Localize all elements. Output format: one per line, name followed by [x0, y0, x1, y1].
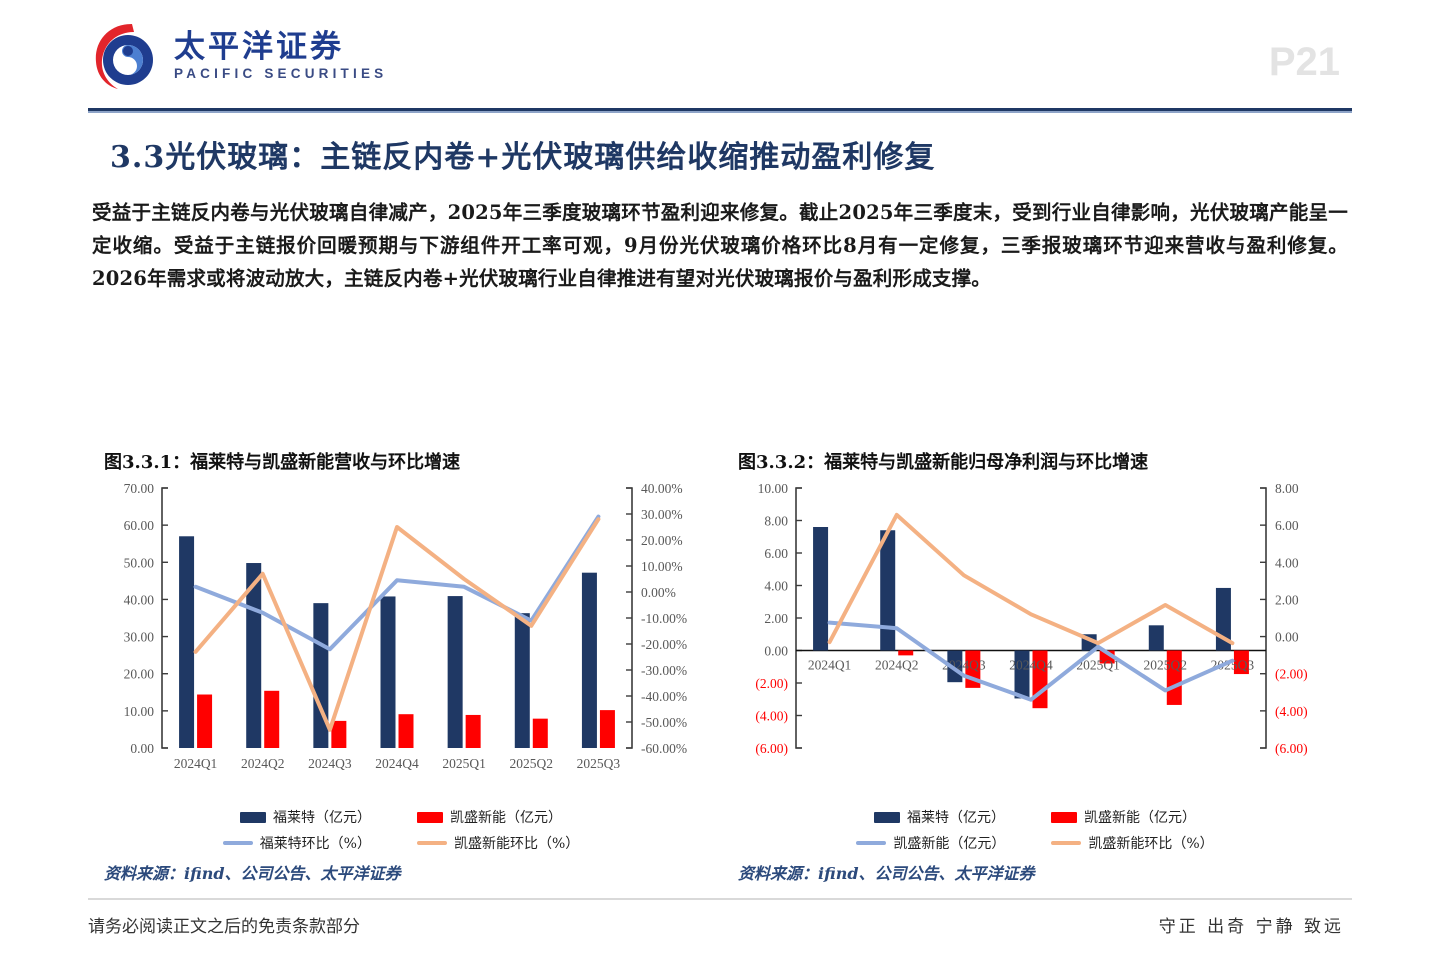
- legend-swatch-bar-red: [1051, 812, 1077, 823]
- legend-item: 凯盛新能（亿元）: [1051, 807, 1196, 827]
- svg-text:30.00: 30.00: [124, 630, 155, 645]
- legend-swatch-bar-navy: [874, 812, 900, 823]
- legend-swatch-bar-navy: [240, 812, 266, 823]
- svg-text:-10.00%: -10.00%: [641, 611, 687, 626]
- chart-title-left: 图3.3.1：福莱特与凯盛新能营收与环比增速: [104, 448, 706, 474]
- svg-text:(2.00): (2.00): [755, 676, 788, 691]
- body-paragraph: 受益于主链反内卷与光伏玻璃自律减产，2025年三季度玻璃环节盈利迎来修复。截止2…: [92, 196, 1348, 295]
- svg-text:2.00: 2.00: [1275, 592, 1299, 607]
- chart-panel-left: 图3.3.1：福莱特与凯盛新能营收与环比增速 0.0010.0020.0030.…: [96, 448, 706, 890]
- legend-swatch-line-orange: [1051, 841, 1081, 845]
- legend-label: 福莱特（亿元）: [907, 807, 1005, 827]
- page-number: P21: [1269, 40, 1340, 85]
- chart-legend-right: 福莱特（亿元） 凯盛新能（亿元） 凯盛新能（亿元） 凯盛新能环比（%）: [730, 804, 1340, 864]
- legend-swatch-bar-red: [417, 812, 443, 823]
- svg-text:20.00%: 20.00%: [641, 533, 683, 548]
- pacific-securities-logo-icon: [88, 18, 164, 92]
- svg-text:2024Q2: 2024Q2: [241, 756, 285, 771]
- svg-text:-40.00%: -40.00%: [641, 689, 687, 704]
- svg-text:(6.00): (6.00): [1275, 741, 1308, 756]
- brand-name-en: PACIFIC SECURITIES: [174, 66, 387, 81]
- footer-disclaimer: 请务必阅读正文之后的免责条款部分: [88, 912, 360, 937]
- svg-text:4.00: 4.00: [764, 579, 788, 594]
- legend-label: 凯盛新能环比（%）: [1088, 833, 1213, 853]
- svg-text:10.00: 10.00: [758, 481, 789, 496]
- svg-text:-30.00%: -30.00%: [641, 663, 687, 678]
- legend-item: 福莱特（亿元）: [240, 807, 371, 827]
- svg-text:0.00%: 0.00%: [641, 585, 676, 600]
- chart-source-left: 资料来源：ifind、公司公告、太平洋证券: [104, 860, 401, 884]
- legend-item: 福莱特环比（%）: [223, 833, 371, 853]
- svg-text:4.00: 4.00: [1275, 555, 1299, 570]
- svg-text:40.00: 40.00: [124, 592, 155, 607]
- svg-text:2.00: 2.00: [764, 611, 788, 626]
- svg-text:70.00: 70.00: [124, 481, 155, 496]
- legend-item: 凯盛新能（亿元）: [856, 833, 1005, 853]
- legend-label: 福莱特（亿元）: [273, 807, 371, 827]
- brand-name-cn: 太平洋证券: [174, 30, 387, 64]
- legend-label: 凯盛新能（亿元）: [893, 833, 1005, 853]
- legend-swatch-line-blue: [856, 841, 886, 845]
- svg-text:2024Q1: 2024Q1: [174, 756, 218, 771]
- chart-plot-right: (6.00)(4.00)(2.00)0.002.004.006.008.0010…: [730, 480, 1340, 800]
- svg-text:-20.00%: -20.00%: [641, 637, 687, 652]
- header-divider: [88, 108, 1352, 113]
- svg-text:2024Q1: 2024Q1: [808, 658, 852, 673]
- svg-text:2024Q2: 2024Q2: [875, 658, 919, 673]
- chart-plot-left: 0.0010.0020.0030.0040.0050.0060.0070.00-…: [96, 480, 706, 800]
- svg-text:(6.00): (6.00): [755, 741, 788, 756]
- slide-root: 太平洋证券 PACIFIC SECURITIES P21 3.3光伏玻璃：主链反…: [0, 0, 1440, 965]
- legend-label: 凯盛新能环比（%）: [454, 833, 579, 853]
- svg-text:2025Q3: 2025Q3: [577, 756, 621, 771]
- brand-logo: 太平洋证券 PACIFIC SECURITIES: [88, 18, 387, 92]
- chart-source-right: 资料来源：ifind、公司公告、太平洋证券: [738, 860, 1035, 884]
- legend-item: 凯盛新能环比（%）: [417, 833, 579, 853]
- page-title: 3.3光伏玻璃：主链反内卷+光伏玻璃供给收缩推动盈利修复: [110, 132, 935, 176]
- legend-label: 凯盛新能（亿元）: [1084, 807, 1196, 827]
- legend-swatch-line-orange: [417, 841, 447, 845]
- svg-text:10.00%: 10.00%: [641, 559, 683, 574]
- chart-title-right: 图3.3.2：福莱特与凯盛新能归母净利润与环比增速: [738, 448, 1340, 474]
- footer-divider: [88, 898, 1352, 900]
- svg-text:2025Q1: 2025Q1: [442, 756, 486, 771]
- legend-item: 凯盛新能（亿元）: [417, 807, 562, 827]
- svg-text:60.00: 60.00: [124, 518, 155, 533]
- legend-item: 福莱特（亿元）: [874, 807, 1005, 827]
- svg-text:0.00: 0.00: [764, 644, 788, 659]
- svg-text:20.00: 20.00: [124, 667, 155, 682]
- svg-text:6.00: 6.00: [1275, 518, 1299, 533]
- chart-legend-left: 福莱特（亿元） 凯盛新能（亿元） 福莱特环比（%） 凯盛新能环比（%）: [96, 804, 706, 864]
- legend-swatch-line-blue: [223, 841, 253, 845]
- svg-text:2024Q4: 2024Q4: [375, 756, 419, 771]
- svg-text:2025Q2: 2025Q2: [510, 756, 554, 771]
- svg-text:-50.00%: -50.00%: [641, 715, 687, 730]
- svg-text:0.00: 0.00: [1275, 630, 1299, 645]
- svg-text:2024Q3: 2024Q3: [308, 756, 352, 771]
- svg-text:40.00%: 40.00%: [641, 481, 683, 496]
- svg-text:-60.00%: -60.00%: [641, 741, 687, 756]
- svg-text:50.00: 50.00: [124, 555, 155, 570]
- svg-text:(4.00): (4.00): [1275, 704, 1308, 719]
- svg-text:6.00: 6.00: [764, 546, 788, 561]
- legend-label: 福莱特环比（%）: [260, 833, 371, 853]
- svg-text:0.00: 0.00: [130, 741, 154, 756]
- svg-text:(2.00): (2.00): [1275, 667, 1308, 682]
- chart-panel-right: 图3.3.2：福莱特与凯盛新能归母净利润与环比增速 (6.00)(4.00)(2…: [730, 448, 1340, 890]
- footer-slogan: 守正 出奇 宁静 致远: [1159, 912, 1344, 937]
- svg-text:8.00: 8.00: [1275, 481, 1299, 496]
- svg-text:8.00: 8.00: [764, 514, 788, 529]
- svg-text:10.00: 10.00: [124, 704, 155, 719]
- svg-text:2025Q2: 2025Q2: [1144, 658, 1188, 673]
- svg-text:(4.00): (4.00): [755, 709, 788, 724]
- legend-label: 凯盛新能（亿元）: [450, 807, 562, 827]
- svg-text:30.00%: 30.00%: [641, 507, 683, 522]
- legend-item: 凯盛新能环比（%）: [1051, 833, 1213, 853]
- svg-text:2024Q4: 2024Q4: [1009, 658, 1053, 673]
